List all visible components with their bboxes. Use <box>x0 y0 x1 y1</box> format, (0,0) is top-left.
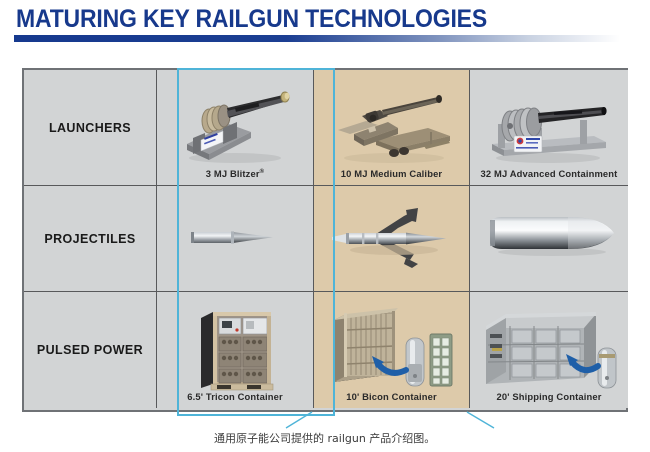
small-projectile-icon <box>187 224 287 250</box>
tricon-container-icon <box>191 306 283 392</box>
row-label-text: PULSED POWER <box>37 343 143 357</box>
row-label-text: LAUNCHERS <box>49 121 131 135</box>
registered-mark: ® <box>260 169 265 175</box>
page-title: MATURING KEY RAILGUN TECHNOLOGIES <box>16 5 487 34</box>
caption-shipping-container: 20' Shipping Container <box>470 391 628 402</box>
cell-projectile-finned-sabot[interactable] <box>314 186 470 292</box>
cell-projectile-large[interactable] <box>470 186 628 292</box>
caption-text: 10' Bicon Container <box>346 391 437 402</box>
annotation-text: 通用原子能公司提供的 railgun 产品介绍图。 <box>214 430 435 446</box>
caption-tricon: 6.5' Tricon Container <box>157 391 313 402</box>
caption-text: 20' Shipping Container <box>496 391 601 402</box>
row-label-launchers: LAUNCHERS <box>24 70 157 186</box>
cell-launcher-blitzer[interactable]: 3 MJ Blitzer® <box>157 70 314 186</box>
caption-blitzer: 3 MJ Blitzer® <box>157 168 313 179</box>
cell-bicon-container[interactable]: 10' Bicon Container <box>314 292 470 408</box>
shipping-container-icon <box>478 304 622 392</box>
bicon-container-icon <box>324 304 464 392</box>
row-label-text: PROJECTILES <box>44 232 135 246</box>
medium-caliber-launcher-icon <box>332 90 456 166</box>
caption-text: 6.5' Tricon Container <box>187 391 283 402</box>
row-label-pulsed-power: PULSED POWER <box>24 292 157 408</box>
caption-bicon: 10' Bicon Container <box>314 391 469 402</box>
blitzer-launcher-icon <box>175 88 301 166</box>
caption-text: 3 MJ Blitzer <box>206 168 260 179</box>
title-underline-rule <box>14 35 620 42</box>
row-label-projectiles: PROJECTILES <box>24 186 157 292</box>
caption-medium-caliber: 10 MJ Medium Caliber <box>314 168 469 179</box>
cell-shipping-container[interactable]: 20' Shipping Container <box>470 292 628 408</box>
caption-text: 32 MJ Advanced Containment <box>481 168 618 179</box>
caption-advanced-containment: 32 MJ Advanced Containment <box>470 168 628 179</box>
caption-text: 10 MJ Medium Caliber <box>341 168 442 179</box>
cell-tricon-container[interactable]: 6.5' Tricon Container <box>157 292 314 408</box>
large-projectile-icon <box>484 214 618 260</box>
cell-launcher-medium-caliber[interactable]: 10 MJ Medium Caliber <box>314 70 470 186</box>
finned-sabot-projectile-icon <box>328 198 458 278</box>
advanced-containment-launcher-icon <box>484 86 614 166</box>
cell-projectile-small[interactable] <box>157 186 314 292</box>
technology-matrix: LAUNCHERS 3 <box>22 68 628 412</box>
cell-launcher-advanced-containment[interactable]: 32 MJ Advanced Containment <box>470 70 628 186</box>
